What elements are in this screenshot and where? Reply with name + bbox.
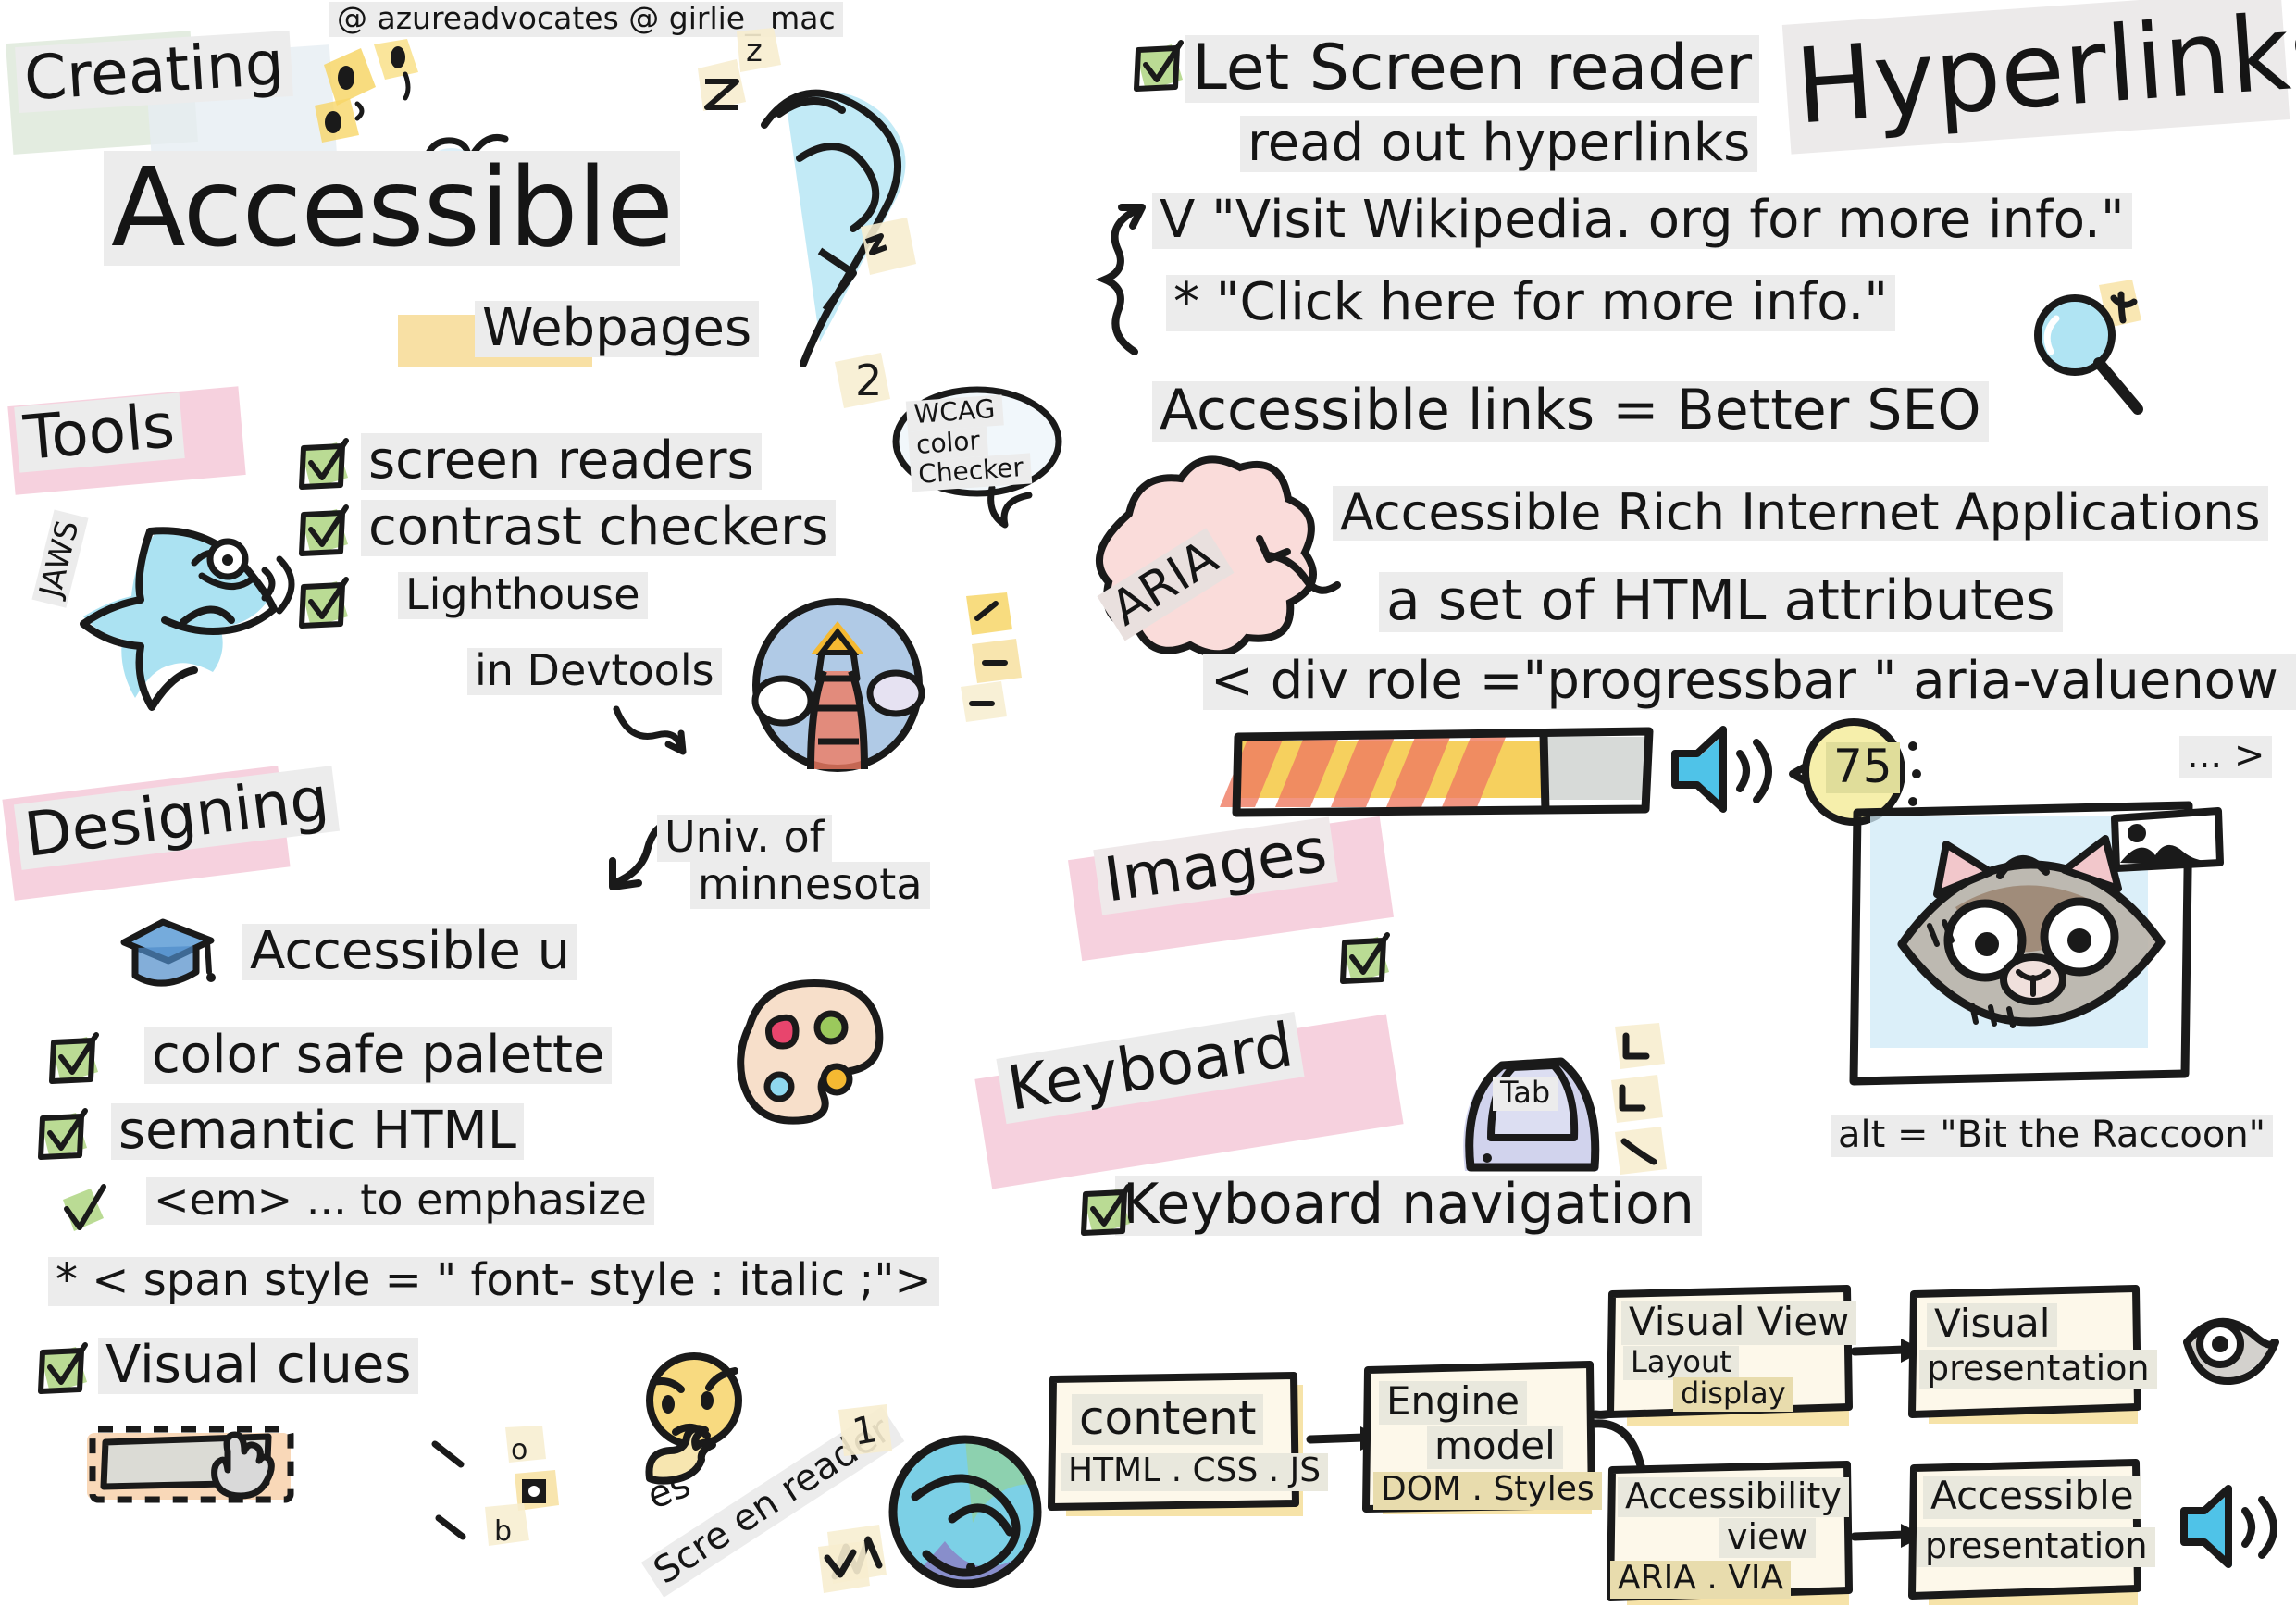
lighthouse-illustration (750, 597, 944, 773)
doodle-edge-sparkle-1: 1 (833, 1402, 925, 1495)
focus-ring-illustration (65, 1426, 342, 1555)
designing-item-semantic-html[interactable]: semantic HTML (44, 1103, 524, 1160)
images-alt-example: alt = "Bit the Raccoon" (1831, 1115, 2273, 1157)
pipeline-node-subtitle-wrap: HTML . CSS . JS (1061, 1453, 1328, 1491)
graduation-cap-icon (118, 916, 220, 1000)
pipeline-node-title: Visual (1927, 1303, 2057, 1347)
pipeline-node-subtitle: HTML . CSS . JS (1061, 1453, 1328, 1491)
tools-item-label: Lighthouse (398, 572, 648, 619)
doodle-sparkle-yellow-right (953, 592, 1036, 722)
checkbox-checked-icon[interactable] (46, 1035, 104, 1092)
designing-anti-pattern: * < span style = " font- style : italic … (48, 1257, 939, 1306)
pipeline-node-title: Accessible (1923, 1476, 2141, 1519)
pipeline-node-title-line2: view (1719, 1518, 1816, 1558)
aria-code-tail: ... > (2179, 736, 2272, 778)
pipeline-node-subtitle: ARIA . VIA (1610, 1561, 1791, 1599)
designing-item-label: <em> ... to emphasize (146, 1177, 654, 1225)
checkbox-checked-icon[interactable] (296, 579, 354, 637)
doodle-edge-sparkle-2 (814, 1541, 888, 1606)
designing-course: Accessible u (242, 924, 577, 980)
pipeline-node-title-line2: model (1427, 1426, 1563, 1469)
eye-icon (2179, 1296, 2281, 1389)
tools-item-label: screen readers (361, 433, 762, 490)
title-line2: Accessible (104, 151, 680, 266)
progress-value-text: 75 (1826, 742, 1900, 793)
pipeline-node-subtitle-wrap: presentation (1919, 1350, 2157, 1389)
doodle-ring-sparkles: o b (426, 1426, 565, 1555)
pipeline-node-subtitle-wrap: ARIA . VIA (1610, 1561, 1791, 1599)
checkbox-checked-icon[interactable] (35, 1345, 93, 1402)
tools-item-screen-readers[interactable]: screen readers (305, 433, 762, 490)
course-source-line2: minnesota (690, 862, 930, 909)
checkbox-checked-icon[interactable] (1131, 43, 1188, 100)
designing-item-label: semantic HTML (111, 1103, 524, 1160)
hyperlinks-rule-line2: read out hyperlinks (1240, 116, 1757, 172)
hyperlinks-good-example: V "Visit Wikipedia. org for more info." (1152, 193, 2132, 249)
svg-text:b: b (494, 1515, 512, 1548)
tab-key-label-wrap: Tab (1493, 1077, 1558, 1111)
doodle-ammonite-shell: 2 (731, 69, 944, 412)
aria-definition: a set of HTML attributes (1379, 572, 2063, 632)
hyperlinks-seo-note: Accessible links = Better SEO (1152, 381, 1989, 442)
svg-text:o: o (511, 1434, 527, 1466)
pipeline-node-title-wrap: Accessible (1923, 1476, 2141, 1519)
course-source-line1: Univ. of (657, 815, 832, 862)
arrow-curly-to-examples (1074, 202, 1175, 368)
hyperlinks-bad-example: * "Click here for more info." (1166, 275, 1895, 331)
aria-expansion: Accessible Rich Internet Applications (1333, 486, 2268, 541)
progress-value-text-wrap: 75 (1826, 742, 1900, 793)
pipeline-node-title-line1: Accessibility (1618, 1477, 1849, 1517)
speaker-icon-output (2175, 1481, 2290, 1578)
designing-item-em-emphasize[interactable]: <em> ... to emphasize (57, 1177, 654, 1225)
svg-text:2: 2 (855, 355, 882, 405)
hyperlinks-rule[interactable]: Let Screen reader (1140, 35, 1759, 103)
keyboard-item-label: Keyboard navigation (1115, 1176, 1702, 1236)
checkmark-icon[interactable] (57, 1187, 109, 1239)
title-line3: Webpages (475, 301, 759, 357)
progressbar-illustration (1231, 722, 1675, 824)
pipeline-node-subtitle: DOM . Styles (1373, 1472, 1602, 1510)
tools-devtools-note: in Devtools (467, 648, 722, 695)
tools-item-label: contrast checkers (361, 500, 836, 556)
pipeline-node-title1-wrap: Accessibility (1618, 1477, 1849, 1517)
pipeline-node-title-wrap: content (1072, 1394, 1263, 1445)
pipeline-node-title1-wrap: Engine (1379, 1381, 1527, 1425)
checkbox-checked-icon[interactable] (296, 441, 354, 498)
tools-item-contrast-checkers[interactable]: contrast checkers (305, 500, 836, 556)
hyperlinks-rule-line2-wrap: read out hyperlinks (1240, 116, 1757, 172)
pipeline-node-title-wrap: Visual View (1621, 1301, 1856, 1345)
pipeline-node-title: Visual View (1621, 1301, 1856, 1345)
pipeline-node-subtitle-wrap: presentation (1917, 1527, 2155, 1567)
wcag-speech-bubble: WCAG color Checker (888, 384, 1074, 532)
magnifier-icon (2017, 278, 2166, 426)
pipeline-node-subtitle-wrap: DOM . Styles (1373, 1472, 1602, 1510)
pipeline-node-title-wrap: Visual (1927, 1303, 2057, 1347)
palette-icon (722, 972, 898, 1129)
wcag-bubble-text: WCAG color Checker (906, 393, 1032, 492)
keyboard-item-navigation[interactable]: Keyboard navigation (1078, 1176, 1702, 1236)
aria-code-snippet: < div role ="progressbar " aria-valuenow… (1203, 654, 2296, 710)
speaker-icon (1666, 722, 1786, 824)
pipeline-node-subtitle: presentation (1919, 1350, 2157, 1389)
tools-item-lighthouse[interactable]: Lighthouse (305, 572, 648, 619)
designing-item-label: Visual clues (98, 1338, 418, 1394)
pipeline-node-subtitle: presentation (1917, 1527, 2155, 1567)
hyperlinks-rule-line1: Let Screen reader (1185, 35, 1759, 103)
tab-key-label: Tab (1493, 1077, 1558, 1111)
pipeline-node-sub2-wrap: display (1673, 1377, 1793, 1412)
checkbox-checked-icon[interactable] (35, 1111, 93, 1168)
svg-text:z: z (746, 32, 763, 69)
pipeline-node-title2-wrap: model (1427, 1426, 1563, 1469)
course-source: Univ. of minnesota (657, 815, 930, 909)
arrow-to-lighthouse (611, 704, 722, 768)
pipeline-node-title-line1: Engine (1379, 1381, 1527, 1425)
tools-heading: Tools (14, 392, 184, 473)
shark-icon (72, 518, 313, 731)
designing-item-color-safe-palette[interactable]: color safe palette (56, 1027, 612, 1084)
tab-key-icon: Tab (1439, 1032, 1615, 1189)
image-frame-raccoon (1837, 787, 2226, 1092)
checkbox-checked-icon[interactable] (296, 507, 354, 565)
checkbox-checked-icon[interactable] (1337, 935, 1395, 992)
pipeline-node-sub-line2: display (1673, 1377, 1793, 1412)
pipeline-node-title2-wrap: view (1719, 1518, 1816, 1558)
thinking-emoji-icon (639, 1347, 759, 1486)
checkbox-checked-icon[interactable] (1078, 1187, 1136, 1244)
pipeline-node-title: content (1072, 1394, 1263, 1445)
designing-item-label: color safe palette (144, 1027, 612, 1084)
designing-item-visual-clues[interactable]: Visual clues (44, 1338, 418, 1394)
